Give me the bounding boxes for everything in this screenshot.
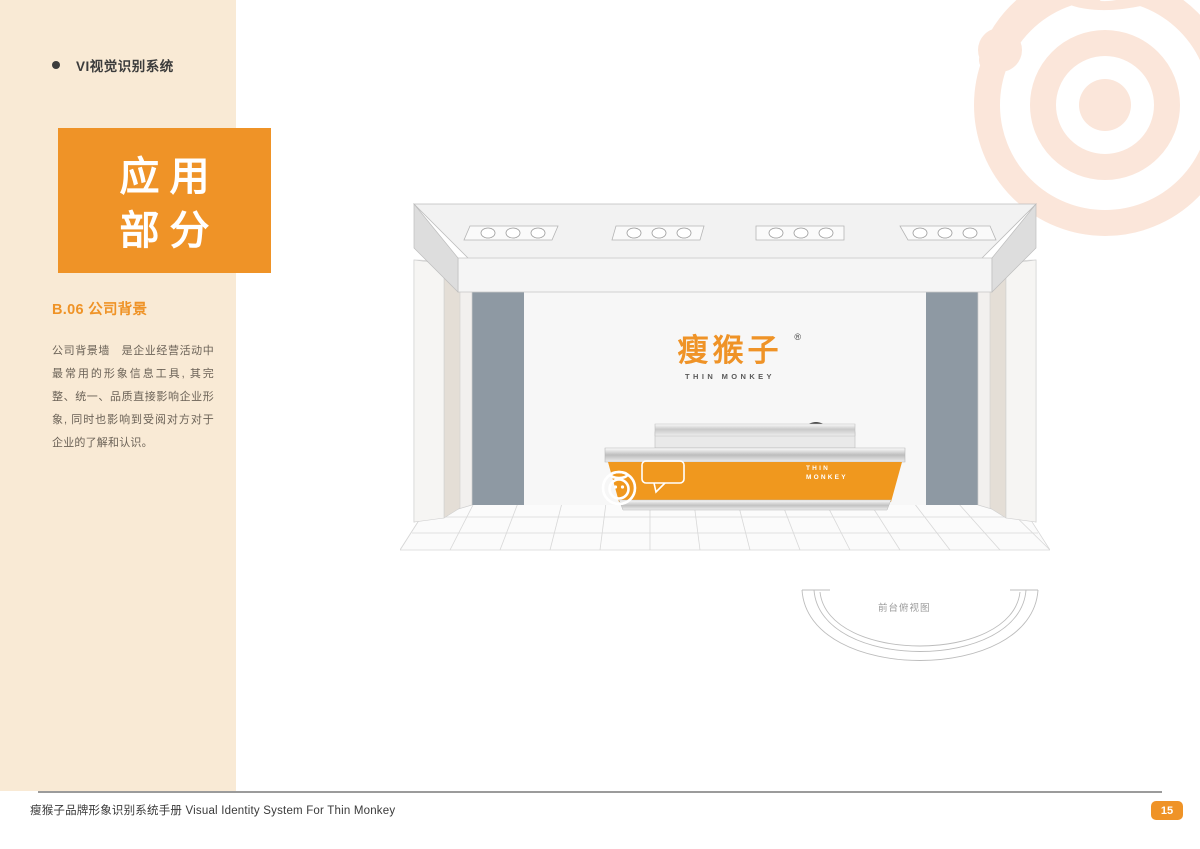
sidebar: VI视觉识别系统 应用 部分 B.06 公司背景 公司背景墙 是企业经营活动中最… bbox=[0, 0, 236, 791]
plan-view-caption: 前台俯视图 bbox=[878, 600, 931, 614]
reception-desk-counter bbox=[605, 448, 905, 510]
side-wall-left bbox=[414, 260, 472, 522]
footer-divider bbox=[38, 791, 1162, 793]
wall-panel-left bbox=[472, 262, 524, 505]
footer-caption: 瘦猴子品牌形象识别系统手册 Visual Identity System For… bbox=[30, 802, 395, 818]
vi-manual-page: VI视觉识别系统 应用 部分 B.06 公司背景 公司背景墙 是企业经营活动中最… bbox=[0, 0, 1200, 849]
wall-logo-english: THIN MONKEY bbox=[665, 372, 795, 381]
ceiling-soffit bbox=[414, 204, 1036, 292]
registered-trademark-icon: ® bbox=[794, 332, 801, 342]
bullet-dot-icon bbox=[52, 61, 60, 69]
section-title-line1: 应用 bbox=[58, 144, 271, 202]
side-wall-right bbox=[978, 260, 1036, 522]
desk-orange-face bbox=[608, 462, 902, 502]
subsection-title: B.06 公司背景 bbox=[52, 298, 147, 319]
sidebar-kicker-label: VI视觉识别系统 bbox=[76, 55, 174, 75]
section-title-block: 应用 部分 bbox=[58, 128, 271, 273]
wall-logo-chinese: 瘦猴子 bbox=[665, 334, 795, 368]
wall-logo: 瘦猴子 THIN MONKEY ® bbox=[665, 334, 795, 396]
desk-logo-english: THIN MONKEY bbox=[806, 464, 848, 482]
reception-plan-view bbox=[790, 580, 1050, 690]
desk-logo-english-line1: THIN bbox=[806, 464, 848, 473]
reception-desk-back bbox=[655, 424, 855, 448]
wall-panel-right bbox=[926, 262, 978, 505]
page-number-badge: 15 bbox=[1151, 801, 1183, 820]
body-paragraph: 公司背景墙 是企业经营活动中最常用的形象信息工具, 其完整、统一、品质直接影响企… bbox=[52, 340, 214, 455]
desk-logo-english-line2: MONKEY bbox=[806, 473, 848, 482]
section-title-line2: 部分 bbox=[58, 198, 271, 256]
sidebar-kicker: VI视觉识别系统 bbox=[52, 55, 174, 75]
